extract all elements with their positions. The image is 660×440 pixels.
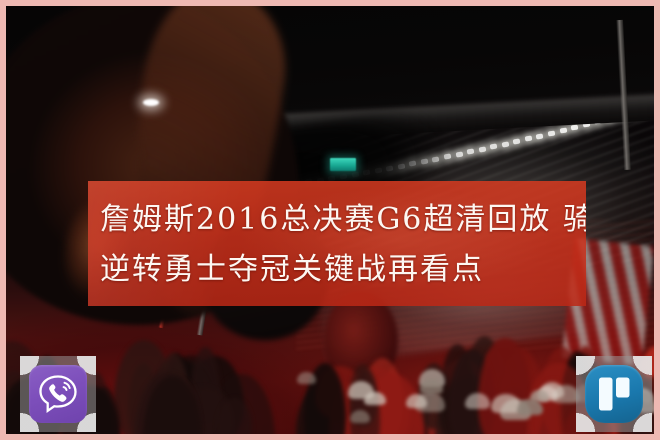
scoreboard-display [330,158,356,171]
viber-phone-icon [29,365,87,423]
screenshot-root: 詹姆斯2016总决赛G6超清回放 骑士 逆转勇士夺冠关键战再看点 [0,0,660,440]
viber-app-icon[interactable] [20,356,96,432]
trello-cards-icon [585,365,643,423]
viber-glyph [29,365,87,423]
trello-app-icon[interactable] [576,356,652,432]
title-line-2: 逆转勇士夺冠关键战再看点 [100,245,586,295]
title-line-1: 詹姆斯2016总决赛G6超清回放 骑士 [100,195,586,245]
title-banner: 詹姆斯2016总决赛G6超清回放 骑士 逆转勇士夺冠关键战再看点 [88,181,586,306]
trello-glyph [585,365,643,423]
light-glint [143,99,159,106]
title-banner-text: 詹姆斯2016总决赛G6超清回放 骑士 逆转勇士夺冠关键战再看点 [88,181,586,295]
photo-area: 詹姆斯2016总决赛G6超清回放 骑士 逆转勇士夺冠关键战再看点 [6,6,654,434]
